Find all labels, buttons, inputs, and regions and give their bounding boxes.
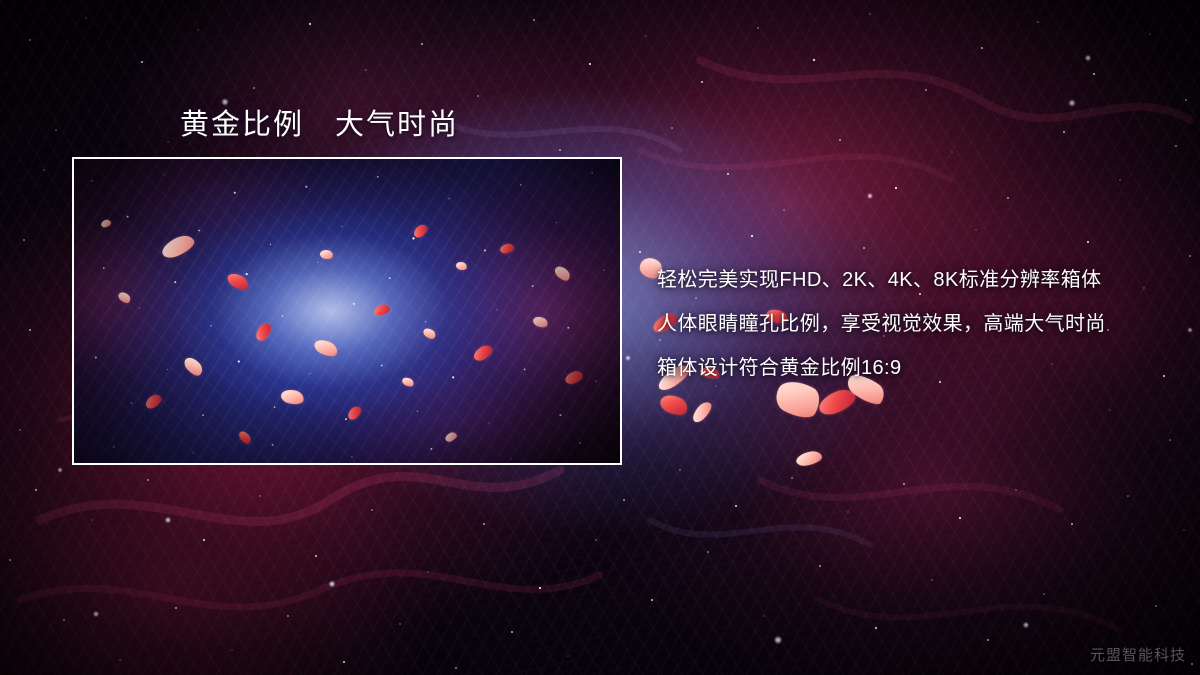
photo-vignette xyxy=(74,159,620,463)
description-line-2: 人体眼睛瞳孔比例，享受视觉效果，高端大气时尚 xyxy=(657,302,1167,346)
framed-photo[interactable] xyxy=(72,157,622,465)
slide-canvas: 黄金比例 大气时尚 轻松完美实现FHD、2K、4K、8K标准分辨率箱体 人体眼睛… xyxy=(0,0,1200,675)
description-line-3: 箱体设计符合黄金比例16:9 xyxy=(657,346,1167,390)
photo-content xyxy=(74,159,620,463)
description-block: 轻松完美实现FHD、2K、4K、8K标准分辨率箱体 人体眼睛瞳孔比例，享受视觉效… xyxy=(657,258,1167,390)
description-line-1: 轻松完美实现FHD、2K、4K、8K标准分辨率箱体 xyxy=(657,258,1167,302)
watermark: 元盟智能科技 xyxy=(1090,644,1186,665)
page-title: 黄金比例 大气时尚 xyxy=(180,101,459,143)
